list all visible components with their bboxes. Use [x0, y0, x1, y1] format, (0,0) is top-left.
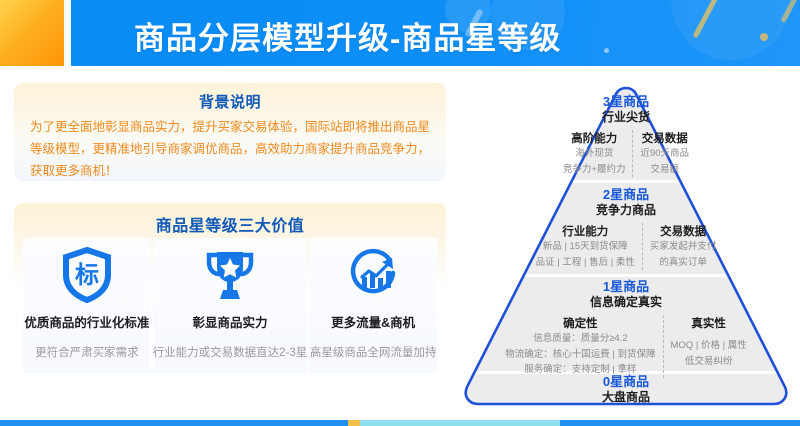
- tier-column-head: 真实性: [671, 315, 747, 331]
- tier-star-label: 1星商品: [464, 279, 788, 295]
- tier-name-label: 大盘商品: [516, 390, 736, 406]
- tier-column-line: 竞争力+履约力: [563, 163, 626, 178]
- header-divider: [64, 0, 71, 66]
- pyramid-tier-0: 0星商品 大盘商品: [516, 374, 736, 406]
- tier-column-line: 的真实订单: [650, 256, 717, 271]
- tier-column-line: 海外现货: [563, 147, 626, 162]
- tier-columns: 高阶能力 海外现货 竞争力+履约力 交易数据 近90天商品 交易额: [526, 130, 726, 177]
- value-item-sub: 高星级商品全网流量加持: [310, 344, 437, 360]
- tier-column-line: 物流确定：核心十国运费 | 到货保障: [505, 348, 655, 363]
- tier-column-line: 低交易纠纷: [671, 355, 747, 370]
- value-item-head: 优质商品的行业化标准: [24, 312, 149, 331]
- value-item-traffic: 更多流量&商机 高星级商品全网流量加持: [309, 238, 437, 374]
- growth-chart-icon: [345, 244, 401, 306]
- bottom-accent-bar: [0, 420, 800, 426]
- value-item-head: 更多流量&商机: [331, 312, 415, 331]
- background-description-card: 背景说明 为了更全面地彰显商品实力，提升买家交易体验，国际站即将推出商品星等级模…: [14, 83, 446, 181]
- value-item-standard: 标 优质商品的行业化标准 更符合严肃买家需求: [23, 238, 151, 374]
- tier-star-label: 0星商品: [516, 374, 736, 390]
- page-title: 商品分层模型升级-商品星等级: [134, 13, 561, 58]
- tier-column-head: 高阶能力: [563, 130, 626, 146]
- tier-column: 交易数据 买家发起并支付 的真实订单: [642, 223, 724, 270]
- svg-text:标: 标: [75, 262, 99, 289]
- tier-name-label: 信息确定真实: [464, 295, 788, 311]
- value-item-strength: 彰显商品实力 行业能力或交易数据直达2-3星: [153, 238, 308, 374]
- value-columns: 标 优质商品的行业化标准 更符合严肃买家需求 彰显商品实力 行业能力或交易数据直…: [22, 238, 438, 374]
- tier-column-line: 新品 | 15天到货保障: [536, 240, 635, 255]
- decorative-circle-icon: [671, 0, 791, 60]
- tier-star-label: 3星商品: [526, 94, 726, 110]
- tier-column-line: 买家发起并支付: [650, 240, 717, 255]
- tier-column-line: 交易额: [640, 163, 689, 178]
- tier-column: 交易数据 近90天商品 交易额: [632, 130, 696, 177]
- tier-columns: 确定性 信息质量：质量分≥4.2 物流确定：核心十国运费 | 到货保障 服务确定…: [464, 315, 788, 378]
- tier-column-head: 确定性: [505, 315, 655, 331]
- tier-column: 高阶能力 海外现货 竞争力+履约力: [556, 130, 633, 177]
- background-card-body: 为了更全面地彰显商品实力，提升买家交易体验，国际站即将推出商品星等级模型，更精准…: [14, 112, 446, 183]
- tier-column-line: 信息质量：质量分≥4.2: [505, 332, 655, 347]
- page-header: 商品分层模型升级-商品星等级: [0, 0, 800, 66]
- decorative-dot-icon: [760, 33, 768, 41]
- trophy-icon: [203, 244, 257, 306]
- tier-column-head: 交易数据: [650, 223, 717, 239]
- decorative-dot-icon: [604, 48, 609, 53]
- shield-biao-icon: 标: [61, 244, 113, 306]
- tier-column: 确定性 信息质量：质量分≥4.2 物流确定：核心十国运费 | 到货保障 服务确定…: [498, 315, 662, 378]
- value-item-sub: 行业能力或交易数据直达2-3星: [153, 344, 308, 360]
- tier-column-line: 近90天商品: [640, 147, 689, 162]
- tier-column-head: 行业能力: [536, 223, 635, 239]
- value-item-sub: 更符合严肃买家需求: [35, 344, 139, 360]
- pyramid-tier-2: 2星商品 竞争力商品 行业能力 新品 | 15天到货保障 品证 | 工程 | 售…: [498, 187, 754, 270]
- tier-star-label: 2星商品: [498, 187, 754, 203]
- value-proposition-card: 商品星等级三大价值 标 优质商品的行业化标准 更符合严肃买家需求: [14, 203, 446, 381]
- value-item-head: 彰显商品实力: [192, 312, 267, 331]
- tier-name-label: 行业尖货: [526, 110, 726, 126]
- pyramid-tier-3: 3星商品 行业尖货 高阶能力 海外现货 竞争力+履约力 交易数据 近90天商品 …: [526, 94, 726, 177]
- tier-column: 行业能力 新品 | 15天到货保障 品证 | 工程 | 售后 | 柔性: [529, 223, 642, 270]
- value-card-title: 商品星等级三大价值: [14, 203, 446, 236]
- tier-column-line: 品证 | 工程 | 售后 | 柔性: [536, 256, 635, 271]
- tier-name-label: 竞争力商品: [498, 203, 754, 219]
- background-card-title: 背景说明: [14, 83, 446, 112]
- pyramid-tier-1: 1星商品 信息确定真实 确定性 信息质量：质量分≥4.2 物流确定：核心十国运费…: [464, 279, 788, 378]
- star-level-pyramid: 3星商品 行业尖货 高阶能力 海外现货 竞争力+履约力 交易数据 近90天商品 …: [458, 82, 794, 410]
- header-orange-block: [0, 0, 64, 66]
- bottom-bar-cyan-accent: [360, 420, 560, 426]
- tier-column: 真实性 MOQ | 价格 | 属性 低交易纠纷: [663, 315, 754, 378]
- tier-column-head: 交易数据: [640, 130, 689, 146]
- tier-column-line: MOQ | 价格 | 属性: [671, 339, 747, 354]
- tier-columns: 行业能力 新品 | 15天到货保障 品证 | 工程 | 售后 | 柔性 交易数据…: [498, 223, 754, 270]
